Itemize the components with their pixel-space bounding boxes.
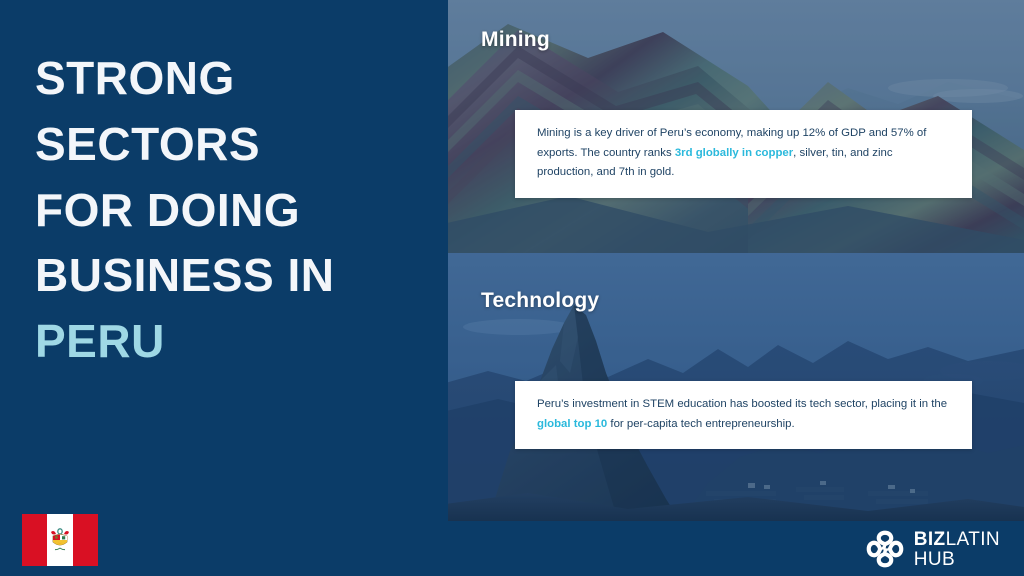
logo-word-biz: BIZ xyxy=(914,529,946,550)
section-panel-technology: Technology Peru’s investment in STEM edu… xyxy=(448,253,1024,521)
info-card-mining: Mining is a key driver of Peru’s economy… xyxy=(515,110,972,198)
technology-text-part-2: for per-capita tech entrepreneurship. xyxy=(607,418,794,430)
title-line-3: FOR DOING xyxy=(35,178,435,244)
section-label-technology: Technology xyxy=(481,289,599,313)
flag-band-red-right xyxy=(73,514,98,566)
flag-band-white-center xyxy=(47,514,72,566)
title-country-accent: PERU xyxy=(35,309,435,375)
biz-latin-hub-logo[interactable]: BIZLATIN HUB xyxy=(865,529,1000,569)
info-card-technology: Peru’s investment in STEM education has … xyxy=(515,381,972,449)
info-card-mining-text: Mining is a key driver of Peru’s economy… xyxy=(537,124,950,183)
page-title: STRONG SECTORS FOR DOING BUSINESS IN PER… xyxy=(35,46,435,375)
logo-wordmark: BIZLATIN HUB xyxy=(914,530,1000,569)
title-line-2: SECTORS xyxy=(35,112,435,178)
logo-wordmark-line-1: BIZLATIN xyxy=(914,530,1000,549)
section-panel-mining: Mining Mining is a key driver of Peru’s … xyxy=(448,0,1024,253)
footer-bar: BIZLATIN HUB xyxy=(448,521,1024,576)
logo-word-latin: LATIN xyxy=(946,529,1000,550)
biz-latin-hub-diamond-icon xyxy=(865,529,905,569)
technology-text-part-1: Peru’s investment in STEM education has … xyxy=(537,398,947,410)
logo-word-hub: HUB xyxy=(914,550,1000,569)
technology-text-highlight: global top 10 xyxy=(537,418,607,430)
peru-flag-icon xyxy=(22,514,98,566)
title-line-4: BUSINESS IN xyxy=(35,243,435,309)
info-card-technology-text: Peru’s investment in STEM education has … xyxy=(537,395,950,434)
flag-band-red-left xyxy=(22,514,47,566)
mining-text-highlight: 3rd globally in copper xyxy=(675,147,793,159)
section-label-mining: Mining xyxy=(481,28,550,52)
left-title-panel: STRONG SECTORS FOR DOING BUSINESS IN PER… xyxy=(0,0,448,576)
title-line-1: STRONG xyxy=(35,46,435,112)
peru-coat-of-arms-icon xyxy=(49,528,71,552)
slide-canvas: STRONG SECTORS FOR DOING BUSINESS IN PER… xyxy=(0,0,1024,576)
